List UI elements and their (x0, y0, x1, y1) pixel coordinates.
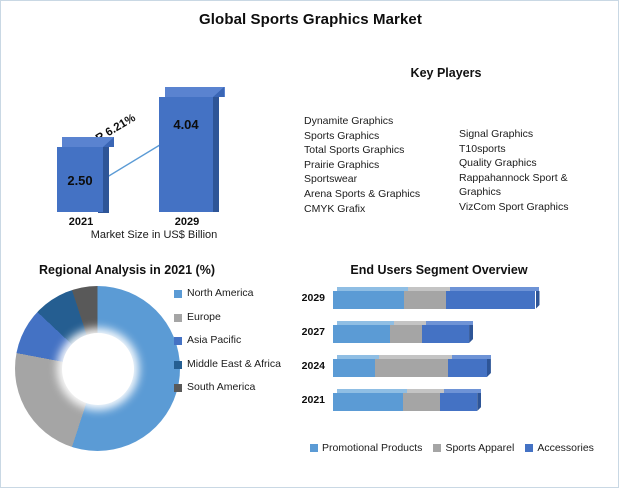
key-player-item: Dynamite Graphics (304, 114, 464, 129)
key-player-item: Arena Sports & Graphics (304, 187, 464, 202)
bar-2029-front (159, 97, 213, 212)
end-users-bar-segment (375, 359, 448, 377)
key-player-item: Sportswear (304, 172, 464, 187)
key-player-item: Rappahannock Sport & (459, 171, 609, 186)
key-player-item: CMYK Grafix (304, 202, 464, 217)
segment-top (452, 355, 491, 359)
end-users-year-label: 2029 (289, 287, 325, 309)
segment-face (390, 325, 422, 343)
end-users-bar-row: 2021 (289, 389, 609, 411)
key-player-item: Quality Graphics (459, 156, 609, 171)
legend-swatch-icon (174, 384, 182, 392)
legend-item-promotional-products[interactable]: Promotional Products (310, 442, 422, 454)
legend-label: North America (187, 287, 254, 301)
segment-top (444, 389, 481, 393)
segment-top (426, 321, 473, 325)
key-player-item: VizCom Sport Graphics (459, 200, 609, 215)
regional-donut-chart (15, 286, 180, 451)
segment-face (404, 291, 446, 309)
end-users-bar-row: 2029 (289, 287, 609, 309)
legend-item-north-america[interactable]: North America (174, 287, 294, 301)
legend-label: Promotional Products (322, 442, 422, 454)
end-users-bar-segment (333, 291, 404, 309)
legend-label: South America (187, 381, 255, 395)
segment-top (337, 389, 407, 393)
segment-face (333, 359, 375, 377)
key-players-column-left: Dynamite Graphics Sports Graphics Total … (304, 114, 464, 216)
segment-face (440, 393, 477, 411)
bar-2021-value: 2.50 (57, 173, 103, 188)
end-users-bar-segment (333, 359, 375, 377)
segment-face (448, 359, 487, 377)
infographic-root: Global Sports Graphics Market CAGR 6.21%… (0, 0, 619, 488)
legend-item-south-america[interactable]: South America (174, 381, 294, 395)
legend-item-sports-apparel[interactable]: Sports Apparel (433, 442, 514, 454)
end-users-bar-segment (403, 393, 440, 411)
segment-top (337, 321, 394, 325)
key-players-column-right: Signal Graphics T10sports Quality Graphi… (459, 127, 609, 215)
segment-face (375, 359, 448, 377)
legend-swatch-icon (433, 444, 441, 452)
legend-swatch-icon (174, 337, 182, 345)
legend-swatch-icon (174, 314, 182, 322)
regional-analysis-title: Regional Analysis in 2021 (%) (39, 263, 215, 277)
market-size-chart: CAGR 6.21% 2.50 4.04 2021 2029 Market Si… (19, 59, 289, 259)
bar-2029: 4.04 (159, 87, 219, 212)
end-users-bar-segment (404, 291, 446, 309)
segment-face (333, 325, 390, 343)
end-users-legend: Promotional Products Sports Apparel Acce… (293, 442, 611, 454)
legend-swatch-icon (525, 444, 533, 452)
end-users-bar-segment (333, 325, 390, 343)
legend-label: Accessories (537, 442, 594, 454)
legend-label: Sports Apparel (445, 442, 514, 454)
segment-top (450, 287, 539, 291)
key-player-item: Sports Graphics (304, 129, 464, 144)
key-player-item: Prairie Graphics (304, 158, 464, 173)
segment-top (408, 287, 450, 291)
segment-face (422, 325, 469, 343)
legend-item-asia-pacific[interactable]: Asia Pacific (174, 334, 294, 348)
key-player-item: T10sports (459, 142, 609, 157)
bar-category-2021: 2021 (55, 216, 107, 228)
end-users-year-label: 2021 (289, 389, 325, 411)
legend-swatch-icon (310, 444, 318, 452)
segment-top (337, 287, 408, 291)
end-users-bar-segment (333, 393, 403, 411)
segment-face (333, 291, 404, 309)
legend-label: Middle East & Africa (187, 358, 281, 372)
segment-side (536, 291, 540, 309)
end-users-bar-segment (422, 325, 469, 343)
segment-top (407, 389, 444, 393)
key-players-panel: Key Players Dynamite Graphics Sports Gra… (301, 59, 611, 244)
segment-side (487, 359, 491, 377)
legend-item-europe[interactable]: Europe (174, 311, 294, 325)
legend-item-accessories[interactable]: Accessories (525, 442, 594, 454)
end-users-bar-segment (448, 359, 487, 377)
end-users-bar-row: 2027 (289, 321, 609, 343)
legend-item-middle-east-africa[interactable]: Middle East & Africa (174, 358, 294, 372)
donut-hole (62, 333, 134, 405)
key-player-item: Total Sports Graphics (304, 143, 464, 158)
key-player-item: Graphics (459, 185, 609, 200)
regional-legend: North America Europe Asia Pacific Middle… (174, 287, 294, 405)
end-users-year-label: 2024 (289, 355, 325, 377)
page-title: Global Sports Graphics Market (1, 11, 619, 28)
key-players-title: Key Players (301, 66, 591, 80)
key-player-item: Signal Graphics (459, 127, 609, 142)
segment-top (337, 355, 379, 359)
end-users-bar-segment (440, 393, 477, 411)
segment-face (403, 393, 440, 411)
end-users-bar-segment (446, 291, 535, 309)
bar-2021: 2.50 (57, 137, 109, 212)
bar-2029-value: 4.04 (159, 117, 213, 132)
legend-swatch-icon (174, 361, 182, 369)
end-users-bar-segment (390, 325, 422, 343)
end-users-bar-row: 2024 (289, 355, 609, 377)
legend-label: Europe (187, 311, 221, 325)
segment-side (469, 325, 473, 343)
end-users-year-label: 2027 (289, 321, 325, 343)
segment-side (477, 393, 481, 411)
end-users-title: End Users Segment Overview (289, 263, 589, 277)
legend-swatch-icon (174, 290, 182, 298)
segment-face (333, 393, 403, 411)
end-users-panel: End Users Segment Overview 2029202720242… (289, 259, 614, 484)
legend-label: Asia Pacific (187, 334, 241, 348)
segment-face (446, 291, 535, 309)
segment-top (379, 355, 452, 359)
bar-category-2029: 2029 (157, 216, 217, 228)
market-size-axis-label: Market Size in US$ Billion (19, 229, 289, 241)
regional-analysis-panel: Regional Analysis in 2021 (%) North Amer… (11, 259, 296, 484)
